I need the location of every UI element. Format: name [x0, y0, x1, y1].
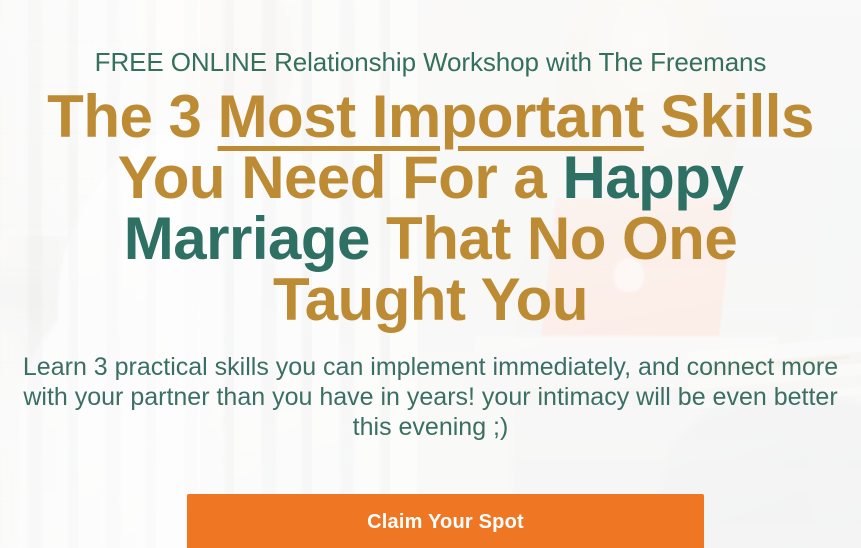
- headline-part-underlined: Most Important: [218, 83, 644, 150]
- subheadline-text: Learn 3 practical skills you can impleme…: [20, 330, 841, 442]
- hero-section: FREE ONLINE Relationship Workshop with T…: [0, 0, 861, 548]
- page-title: The 3 Most Important Skills You Need For…: [20, 78, 841, 330]
- hero-content: FREE ONLINE Relationship Workshop with T…: [0, 0, 861, 548]
- eyebrow-text: FREE ONLINE Relationship Workshop with T…: [20, 0, 841, 78]
- headline-part-1: The 3: [47, 83, 217, 150]
